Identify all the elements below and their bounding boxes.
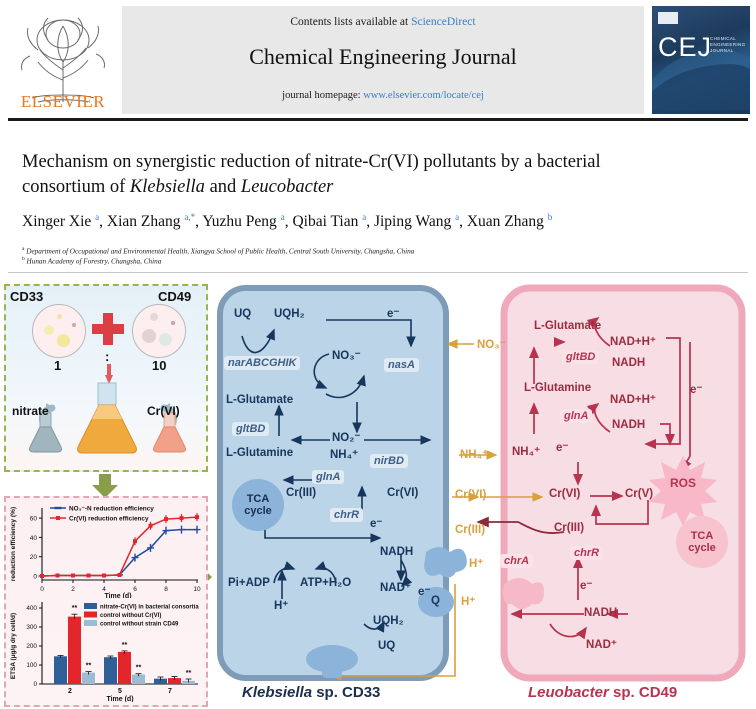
legend-label-consortia: nitrate-Cr(VI) in bacterial consortia — [100, 605, 199, 611]
affiliation-a: a Department of Occupational and Environ… — [22, 246, 414, 255]
line-chart-legend: NO₃⁻-N reduction efficiency Cr(VI) reduc… — [50, 505, 154, 522]
journal-header: ELSEVIER Contents lists available at Sci… — [0, 0, 756, 122]
metabolite-nh4: NH₄⁺ — [512, 444, 540, 458]
species-label-leucobacter: Leuobacter sp. CD49 — [528, 684, 677, 701]
petri-dish-cd33 — [32, 304, 86, 358]
petri-dish-cd49 — [132, 304, 186, 358]
svg-text:400: 400 — [26, 605, 37, 612]
svg-text:4: 4 — [102, 586, 106, 593]
metabolite-nad-h-1: NAD+H⁺ — [610, 334, 656, 348]
reduction-efficiency-line-chart: 020 4060 024 6810 Time (d) reduction eff… — [6, 498, 206, 598]
x-tick-labels: 257 — [68, 688, 172, 695]
series-no3n — [39, 526, 201, 576]
pathway-diagram: UQ UQH₂ e⁻ NO₃⁻ NO₂⁻ narABCGHIK nasA nir… — [212, 284, 756, 709]
elsevier-wordmark: ELSEVIER — [8, 92, 118, 112]
pollutant-label-crvi: Cr(VI) — [147, 404, 180, 418]
colony-dot — [57, 314, 62, 319]
metabolite-cr6: Cr(VI) — [387, 487, 418, 499]
plus-icon — [92, 313, 124, 345]
electron-label: e⁻ — [387, 306, 399, 320]
significance-marker: ** — [72, 605, 78, 612]
klebsiella-genus: Klebsiella — [242, 684, 312, 701]
metabolite-nadh-3: NADH — [584, 607, 617, 619]
gene-nirbd: nirBD — [370, 454, 408, 468]
title-divider — [8, 272, 748, 273]
affiliation-a-text: Department of Occupational and Environme… — [26, 247, 414, 255]
cover-letters: CEJ — [658, 32, 712, 63]
gene-gltbd: gltBD — [232, 422, 269, 436]
svg-text:200: 200 — [26, 643, 37, 650]
significance-marker: ** — [136, 665, 142, 672]
contents-line: Contents lists available at ScienceDirec… — [122, 16, 644, 28]
title-genus-1: Klebsiella — [130, 177, 205, 197]
svg-text:2: 2 — [68, 688, 72, 695]
metabolite-uq-bottom: UQ — [378, 640, 395, 652]
header-rule — [8, 118, 748, 121]
legend-label-no-cd49: control without strain CD49 — [100, 622, 179, 628]
metabolite-cr3: Cr(III) — [286, 487, 316, 499]
metabolite-uqh2-bottom: UQH₂ — [373, 615, 404, 627]
metabolite-cr3: Cr(III) — [554, 522, 584, 534]
x-axis-label: Time (d) — [106, 696, 133, 702]
proton-in-label: H⁺ — [461, 594, 475, 608]
homepage-prefix: journal homepage: — [282, 90, 363, 101]
title-text-2: and — [205, 177, 241, 197]
bar-group-day7: ** — [154, 670, 195, 684]
metabolite-cr5: Cr(V) — [625, 488, 653, 500]
gene-gltbd: gltBD — [562, 350, 599, 364]
strain-label-cd33: CD33 — [10, 289, 43, 304]
metabolite-l-glutamine: L-Glutamine — [226, 447, 293, 459]
series-crvi — [40, 513, 199, 578]
y-axis-label: reduction efficiency (%) — [10, 507, 17, 581]
pollutant-label-nitrate: nitrate — [12, 404, 49, 418]
cover-elsevier-mark — [658, 12, 678, 24]
electron-label: e⁻ — [580, 578, 592, 592]
metabolite-uqh2: UQH₂ — [274, 308, 305, 320]
contents-prefix: Contents lists available at — [290, 16, 411, 28]
svg-text:40: 40 — [30, 535, 38, 542]
journal-homepage-link[interactable]: www.elsevier.com/locate/cej — [363, 90, 484, 101]
svg-text:10: 10 — [193, 586, 201, 593]
metabolite-atp-h2o: ATP+H₂O — [300, 577, 351, 589]
metabolite-nadh-1: NADH — [612, 357, 645, 369]
author-list: Xinger Xie a, Xian Zhang a,*, Yuzhu Peng… — [22, 212, 722, 231]
colony-dot — [72, 323, 76, 327]
svg-text:0: 0 — [33, 574, 37, 581]
metabolite-nad: NAD⁺ — [586, 637, 617, 651]
svg-text:2: 2 — [71, 586, 75, 593]
colony-dot — [150, 313, 158, 321]
legend-label-no3n: NO₃⁻-N reduction efficiency — [69, 505, 154, 512]
metabolite-cr6: Cr(VI) — [549, 488, 580, 500]
flask-illustration — [6, 381, 210, 469]
gene-glna: glnA — [312, 470, 344, 484]
svg-text:7: 7 — [168, 688, 172, 695]
colony-dot — [57, 334, 70, 347]
y-axis-label: ETSA (μg/g dry cell/d) — [10, 613, 17, 679]
colony-dot — [171, 321, 175, 325]
metabolite-l-glutamate: L-Glutamate — [226, 394, 293, 406]
graphical-abstract-left: CD33 CD49 1 10 : — [0, 284, 212, 709]
ratio-value-left: 1 — [54, 358, 61, 373]
journal-title: Chemical Engineering Journal — [122, 44, 644, 70]
nadh-dehydrogenase-icon — [424, 547, 467, 578]
journal-cover-image: CEJ CHEMICALENGINEERINGJOURNAL — [652, 6, 750, 114]
gene-chrr: chrR — [330, 508, 363, 522]
gene-narabcghik: narABCGHIK — [224, 356, 300, 370]
svg-text:5: 5 — [118, 688, 122, 695]
experimental-setup-panel: CD33 CD49 1 10 : — [4, 284, 208, 472]
electron-label: e⁻ — [690, 382, 702, 396]
svg-text:0: 0 — [40, 586, 44, 593]
tca-cycle-klebsiella: TCAcycle — [232, 479, 284, 531]
tca-cycle-leucobacter: TCAcycle — [676, 516, 728, 568]
metabolite-no3: NO₃⁻ — [332, 348, 361, 362]
metabolite-uq: UQ — [234, 308, 251, 320]
metabolite-q: Q — [431, 595, 440, 607]
electron-label: e⁻ — [556, 440, 568, 454]
journal-banner: Contents lists available at ScienceDirec… — [122, 6, 644, 114]
gene-nasa: nasA — [384, 358, 419, 372]
svg-text:20: 20 — [30, 554, 38, 561]
svg-text:0: 0 — [33, 681, 37, 688]
sciencedirect-link[interactable]: ScienceDirect — [411, 16, 476, 28]
flow-arrow-down-icon — [92, 474, 118, 498]
etsa-bar-chart: 0100 200300400 ETSA (μg/g dry cell/d) Ti… — [6, 596, 206, 702]
cover-subtitle: CHEMICALENGINEERINGJOURNAL — [710, 36, 745, 54]
klebsiella-strain: sp. CD33 — [312, 684, 380, 701]
transport-nh4: NH₄⁺ — [460, 447, 488, 461]
significance-marker: ** — [86, 663, 92, 670]
page-title: Mechanism on synergistic reduction of ni… — [22, 150, 652, 200]
legend-label-no-crvi: control without Cr(VI) — [100, 613, 161, 619]
transport-no3: NO₃⁻ — [477, 337, 506, 351]
y-tick-labels: 020 4060 — [30, 516, 38, 581]
y-tick-labels: 0100 200300400 — [26, 605, 37, 688]
bar-group-day5: ** ** — [104, 642, 145, 684]
homepage-line: journal homepage: www.elsevier.com/locat… — [122, 90, 644, 101]
gene-chrr: chrR — [570, 546, 603, 560]
svg-text:300: 300 — [26, 624, 37, 631]
significance-marker: ** — [186, 670, 192, 677]
leucobacter-strain: sp. CD49 — [609, 684, 677, 701]
transport-crvi: Cr(VI) — [455, 489, 486, 501]
svg-text:6: 6 — [133, 586, 137, 593]
ratio-colon: : — [105, 349, 109, 364]
colony-dot — [159, 333, 172, 346]
metabolite-no2: NO₂⁻ — [332, 430, 360, 444]
metabolite-pi-adp: Pi+ADP — [228, 577, 270, 589]
svg-text:100: 100 — [26, 662, 37, 669]
metabolite-nad-h-2: NAD+H⁺ — [610, 392, 656, 406]
proton-out-label: H⁺ — [469, 556, 483, 570]
gene-glna: glnA — [560, 409, 592, 423]
svg-text:60: 60 — [30, 516, 38, 523]
colony-dot — [44, 325, 54, 335]
electron-label: e⁻ — [370, 516, 382, 530]
metabolite-l-glutamate: L-Glutamate — [534, 320, 601, 332]
metabolite-nad: NAD⁺ — [380, 580, 411, 594]
affiliation-b: b Hunan Academy of Forestry, Changsha, C… — [22, 256, 161, 265]
metabolite-nadh-2: NADH — [612, 419, 645, 431]
title-genus-2: Leucobacter — [241, 177, 333, 197]
metabolite-l-glutamine: L-Glutamine — [524, 382, 591, 394]
ratio-value-right: 10 — [152, 358, 166, 373]
metabolite-nh4: NH₄⁺ — [330, 447, 358, 461]
electron-label: e⁻ — [418, 584, 430, 598]
metabolite-nadh: NADH — [380, 546, 413, 558]
strain-label-cd49: CD49 — [158, 289, 191, 304]
colony-dot — [142, 329, 156, 343]
affiliation-b-text: Hunan Academy of Forestry, Changsha, Chi… — [27, 257, 162, 265]
proton-label: H⁺ — [274, 598, 288, 612]
gene-chra: chrA — [500, 554, 533, 568]
x-tick-labels: 024 6810 — [40, 586, 201, 593]
ros-label: ROS — [656, 456, 710, 510]
leucobacter-genus: Leuobacter — [528, 684, 609, 701]
legend-label-crvi: Cr(VI) reduction efficiency — [69, 515, 149, 522]
svg-text:8: 8 — [164, 586, 168, 593]
significance-marker: ** — [122, 642, 128, 649]
transport-criii: Cr(III) — [455, 524, 485, 536]
species-label-klebsiella: Klebsiella sp. CD33 — [242, 684, 380, 701]
bar-chart-legend: nitrate-Cr(VI) in bacterial consortia co… — [84, 603, 199, 628]
